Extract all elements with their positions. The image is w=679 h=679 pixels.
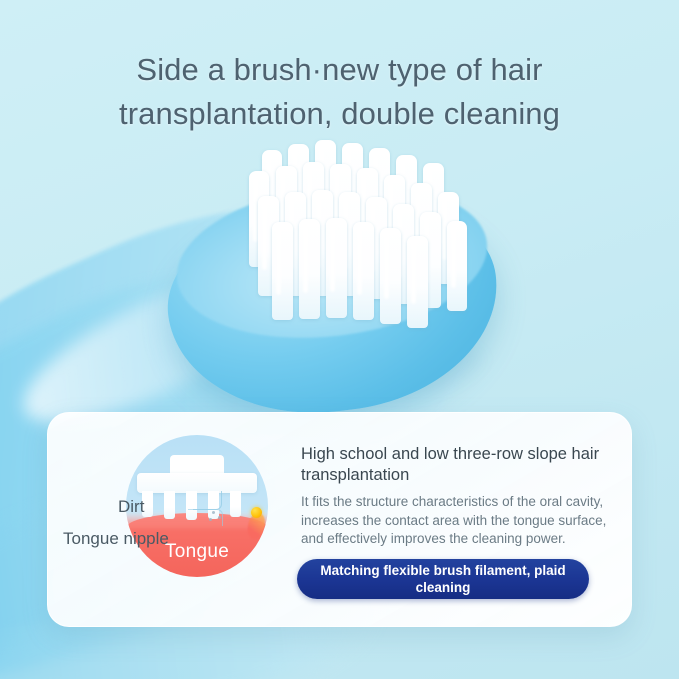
feature-title: High school and low three-row slope hair… <box>301 444 621 486</box>
feature-banner: Matching flexible brush filament, plaid … <box>297 559 589 599</box>
feature-description-line-2: increases the contact area with the tong… <box>301 512 621 531</box>
diagram-label-tongue-nipple: Tongue nipple <box>63 529 169 549</box>
leader-line-dirt <box>193 491 222 510</box>
feature-description: It fits the structure characteristics of… <box>301 493 621 549</box>
feature-card: Tongue Dirt Tongue nipple High school an… <box>47 412 632 627</box>
feature-banner-label: Matching flexible brush filament, plaid … <box>297 562 589 596</box>
diagram-bristle <box>230 491 241 517</box>
feature-description-line-3: and effectively improves the cleaning po… <box>301 530 621 549</box>
dirt-clump <box>251 507 262 518</box>
product-marketing-image: Side a brush·new type of hair transplant… <box>0 0 679 679</box>
page-title-line-1: Side a brush·new type of hair <box>0 48 679 92</box>
diagram-bristle <box>164 491 175 519</box>
diagram-label-dirt: Dirt <box>118 497 144 517</box>
feature-description-line-1: It fits the structure characteristics of… <box>301 493 621 512</box>
page-title-line-2: transplantation, double cleaning <box>0 92 679 136</box>
diagram-brush-stem <box>170 455 224 475</box>
page-title: Side a brush·new type of hair transplant… <box>0 48 679 136</box>
feature-text-column: High school and low three-row slope hair… <box>301 444 621 549</box>
leader-line-tongue-nipple <box>188 509 223 526</box>
diagram-brush-head-bar <box>137 473 257 493</box>
